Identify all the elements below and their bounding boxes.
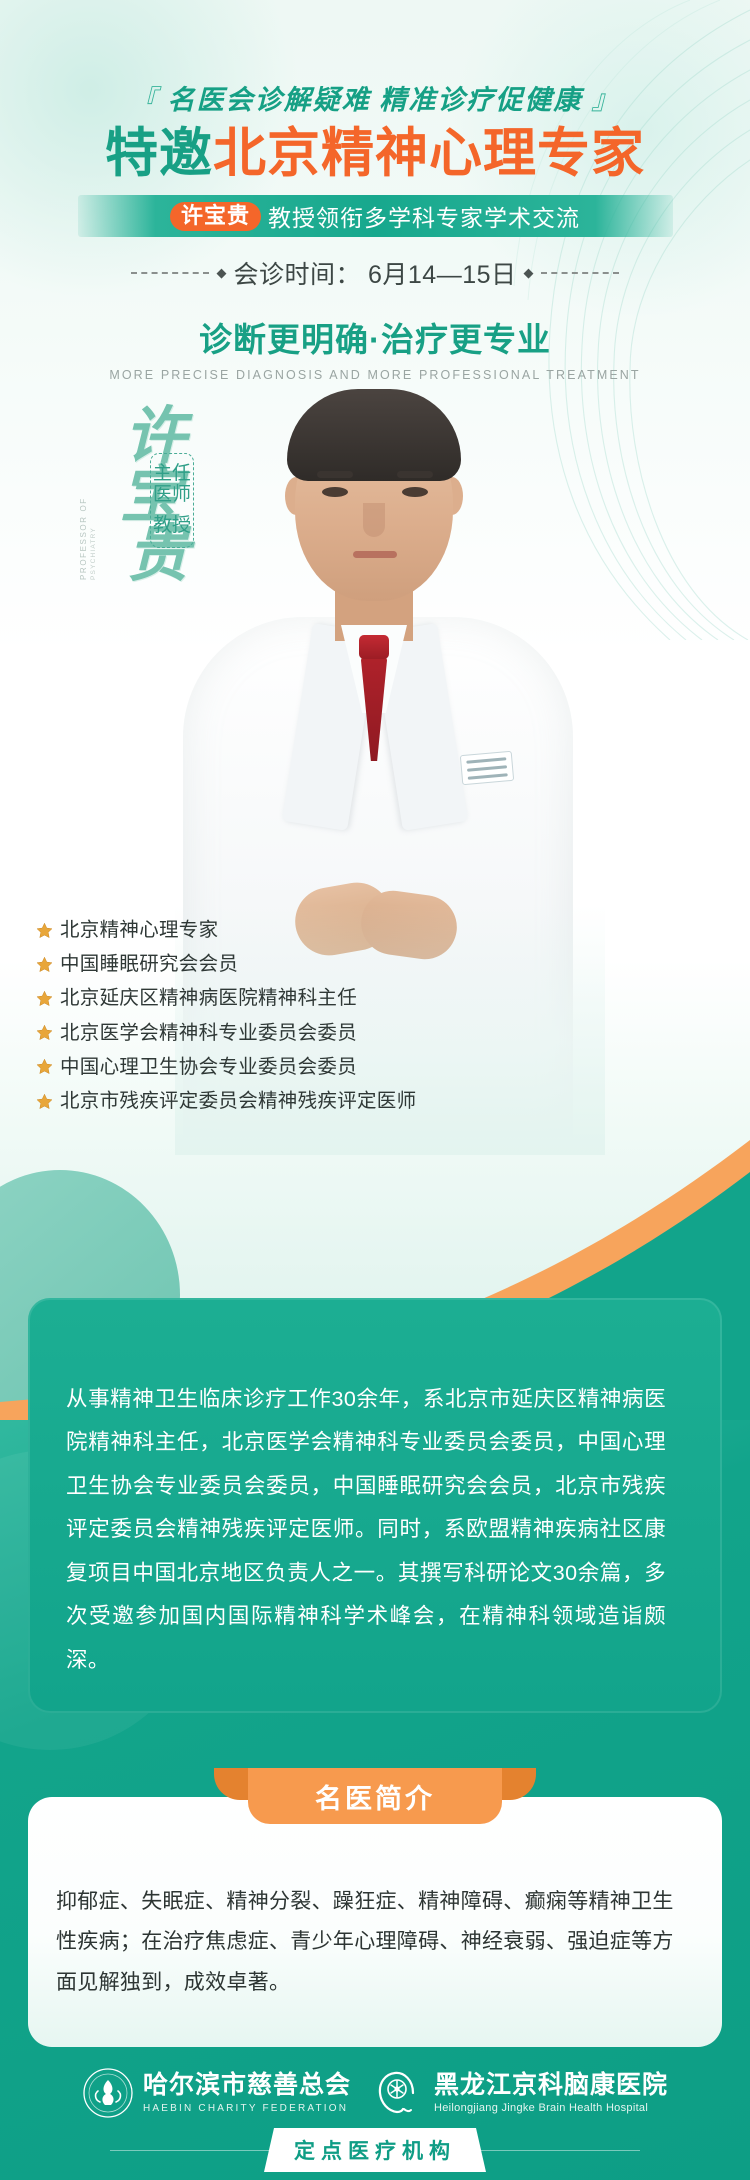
poster-footer: 哈尔滨市慈善总会 HAEBIN CHARITY FEDERATION 黑龙江京科… bbox=[0, 2055, 750, 2180]
certification-label: 定点医疗机构 bbox=[294, 2140, 456, 2163]
hospital-name-cn: 黑龙江京科脑康医院 bbox=[434, 2072, 668, 2100]
star-bullet-icon bbox=[36, 1024, 53, 1041]
nose bbox=[363, 503, 385, 537]
header-kicker: 『 名医会诊解疑难 精准诊疗促健康 』 bbox=[0, 78, 750, 117]
doctor-name-pill: 许宝贵 bbox=[170, 202, 261, 231]
biography-text: 从事精神卫生临床诊疗工作30余年，系北京市延庆区精神病医院精神科主任，北京医学会… bbox=[66, 1378, 666, 1682]
latin-psychiatry-label: PSYCHIATRY bbox=[90, 527, 97, 580]
list-item: 北京市残疾评定委员会精神残疾评定医师 bbox=[36, 1086, 416, 1116]
credentials-list: 北京精神心理专家 中国睡眠研究会会员 北京延庆区精神病医院精神科主任 北京医学会… bbox=[36, 915, 416, 1120]
page-title: 特邀北京精神心理专家 bbox=[0, 126, 750, 182]
ribbon-body: 名医简介 bbox=[248, 1768, 502, 1824]
eyebrow-right bbox=[397, 471, 433, 478]
brain-head-icon bbox=[373, 2067, 425, 2119]
hospital-logo: 黑龙江京科脑康医院 Heilongjiang Jingke Brain Heal… bbox=[373, 2067, 668, 2119]
expert-band: 许宝贵 教授领衔多学科专家学术交流 bbox=[78, 195, 673, 237]
star-bullet-icon bbox=[36, 990, 53, 1007]
partner-logos: 哈尔滨市慈善总会 HAEBIN CHARITY FEDERATION 黑龙江京科… bbox=[0, 2055, 750, 2119]
diamond-left-icon: ◆ bbox=[216, 265, 226, 281]
hospital-logo-text: 黑龙江京科脑康医院 Heilongjiang Jingke Brain Heal… bbox=[434, 2072, 668, 2115]
dash-left bbox=[131, 272, 209, 274]
credential-text: 北京市残疾评定委员会精神残疾评定医师 bbox=[60, 1086, 416, 1116]
star-bullet-icon bbox=[36, 1093, 53, 1110]
eyebrow-left bbox=[317, 471, 353, 478]
id-badge bbox=[460, 751, 514, 785]
eye-left bbox=[322, 487, 348, 497]
credential-text: 中国心理卫生协会专业委员会委员 bbox=[60, 1052, 357, 1082]
star-bullet-icon bbox=[36, 956, 53, 973]
dash-right bbox=[541, 272, 619, 274]
list-item: 中国心理卫生协会专业委员会委员 bbox=[36, 1052, 416, 1082]
hair bbox=[287, 389, 461, 481]
charity-name-en: HAEBIN CHARITY FEDERATION bbox=[143, 2103, 351, 2114]
doctor-title-badge: 主任医师 教授 bbox=[150, 453, 194, 548]
certification-row: 定点医疗机构 bbox=[0, 2128, 750, 2172]
poster-header: 『 名医会诊解疑难 精准诊疗促健康 』 特邀北京精神心理专家 许宝贵 教授领衔多… bbox=[0, 78, 750, 382]
specialty-text: 抑郁症、失眠症、精神分裂、躁狂症、精神障碍、癫痫等精神卫生性疾病；在治疗焦虑症、… bbox=[56, 1882, 676, 2003]
expert-band-text: 教授领衔多学科专家学术交流 bbox=[268, 199, 580, 233]
eye-right bbox=[402, 487, 428, 497]
promotional-poster: 『 名医会诊解疑难 精准诊疗促健康 』 特邀北京精神心理专家 许宝贵 教授领衔多… bbox=[0, 0, 750, 2180]
consultation-date-row: ◆ 会诊时间： 6月14—15日 ◆ bbox=[0, 255, 750, 291]
list-item: 北京医学会精神科专业委员会委员 bbox=[36, 1018, 416, 1048]
charity-name-cn: 哈尔滨市慈善总会 bbox=[143, 2072, 351, 2100]
hospital-name-en: Heilongjiang Jingke Brain Health Hospita… bbox=[434, 2102, 668, 2114]
doctor-title-line-2: 教授 bbox=[151, 515, 193, 536]
credential-text: 北京精神心理专家 bbox=[60, 915, 218, 945]
certification-badge: 定点医疗机构 bbox=[264, 2128, 486, 2172]
credential-text: 北京延庆区精神病医院精神科主任 bbox=[60, 983, 357, 1013]
ribbon-label: 名医简介 bbox=[315, 1777, 435, 1816]
title-part-orange: 北京精神心理专家 bbox=[213, 124, 645, 183]
credential-text: 北京医学会精神科专业委员会委员 bbox=[60, 1018, 357, 1048]
charity-federation-logo: 哈尔滨市慈善总会 HAEBIN CHARITY FEDERATION bbox=[82, 2067, 351, 2119]
title-gap bbox=[151, 506, 193, 515]
star-bullet-icon bbox=[36, 922, 53, 939]
bracket-close: 』 bbox=[591, 85, 620, 115]
list-item: 北京延庆区精神病医院精神科主任 bbox=[36, 983, 416, 1013]
bracket-open: 『 bbox=[130, 85, 159, 115]
cert-line-left bbox=[110, 2150, 270, 2151]
date-value: 6月14—15日 bbox=[368, 255, 517, 291]
mouth bbox=[353, 551, 397, 558]
necktie-knot bbox=[359, 635, 389, 659]
date-label: 会诊时间： bbox=[233, 255, 361, 291]
title-part-green: 特邀 bbox=[105, 124, 213, 183]
list-item: 中国睡眠研究会会员 bbox=[36, 949, 416, 979]
charity-logo-text: 哈尔滨市慈善总会 HAEBIN CHARITY FEDERATION bbox=[143, 2072, 351, 2114]
credential-text: 中国睡眠研究会会员 bbox=[60, 949, 238, 979]
list-item: 北京精神心理专家 bbox=[36, 915, 416, 945]
section-ribbon: 名医简介 bbox=[214, 1768, 536, 1824]
kicker-text: 名医会诊解疑难 精准诊疗促健康 bbox=[168, 85, 583, 115]
star-bullet-icon bbox=[36, 1058, 53, 1075]
doctor-title-line-1: 主任医师 bbox=[151, 463, 193, 506]
cert-line-right bbox=[480, 2150, 640, 2151]
charity-seal-icon bbox=[82, 2067, 134, 2119]
latin-professor-label: PROFESSOR OF bbox=[79, 497, 88, 580]
diamond-right-icon: ◆ bbox=[524, 265, 534, 281]
